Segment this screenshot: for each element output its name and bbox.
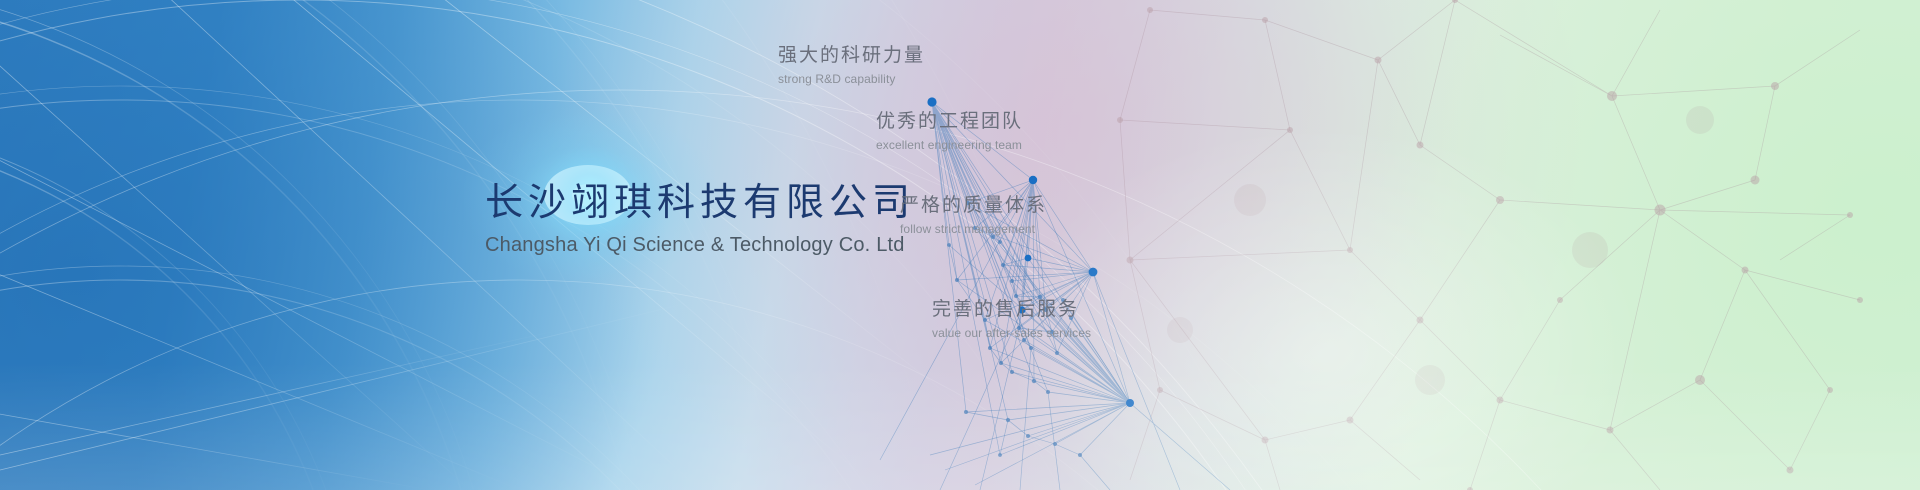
feature-callout-quality-system: 严格的质量体系 follow strict management <box>900 194 1047 236</box>
feature-callout-after-sales: 完善的售后服务 value our after-sales services <box>932 298 1091 340</box>
feature-label-en: excellent engineering team <box>876 138 1023 152</box>
feature-label-en: strong R&D capability <box>778 72 925 86</box>
feature-callout-engineering-team: 优秀的工程团队 excellent engineering team <box>876 110 1023 152</box>
feature-label-cn: 优秀的工程团队 <box>876 110 1023 135</box>
company-name-english: Changsha Yi Qi Science & Technology Co. … <box>485 234 1105 257</box>
feature-label-cn: 强大的科研力量 <box>778 44 925 69</box>
feature-callout-rnd: 强大的科研力量 strong R&D capability <box>778 44 925 86</box>
feature-label-cn: 严格的质量体系 <box>900 194 1047 219</box>
feature-label-en: follow strict management <box>900 222 1047 236</box>
feature-label-en: value our after-sales services <box>932 326 1091 340</box>
feature-label-cn: 完善的售后服务 <box>932 298 1091 323</box>
hero-banner: 长沙翊琪科技有限公司 Changsha Yi Qi Science & Tech… <box>0 0 1920 490</box>
